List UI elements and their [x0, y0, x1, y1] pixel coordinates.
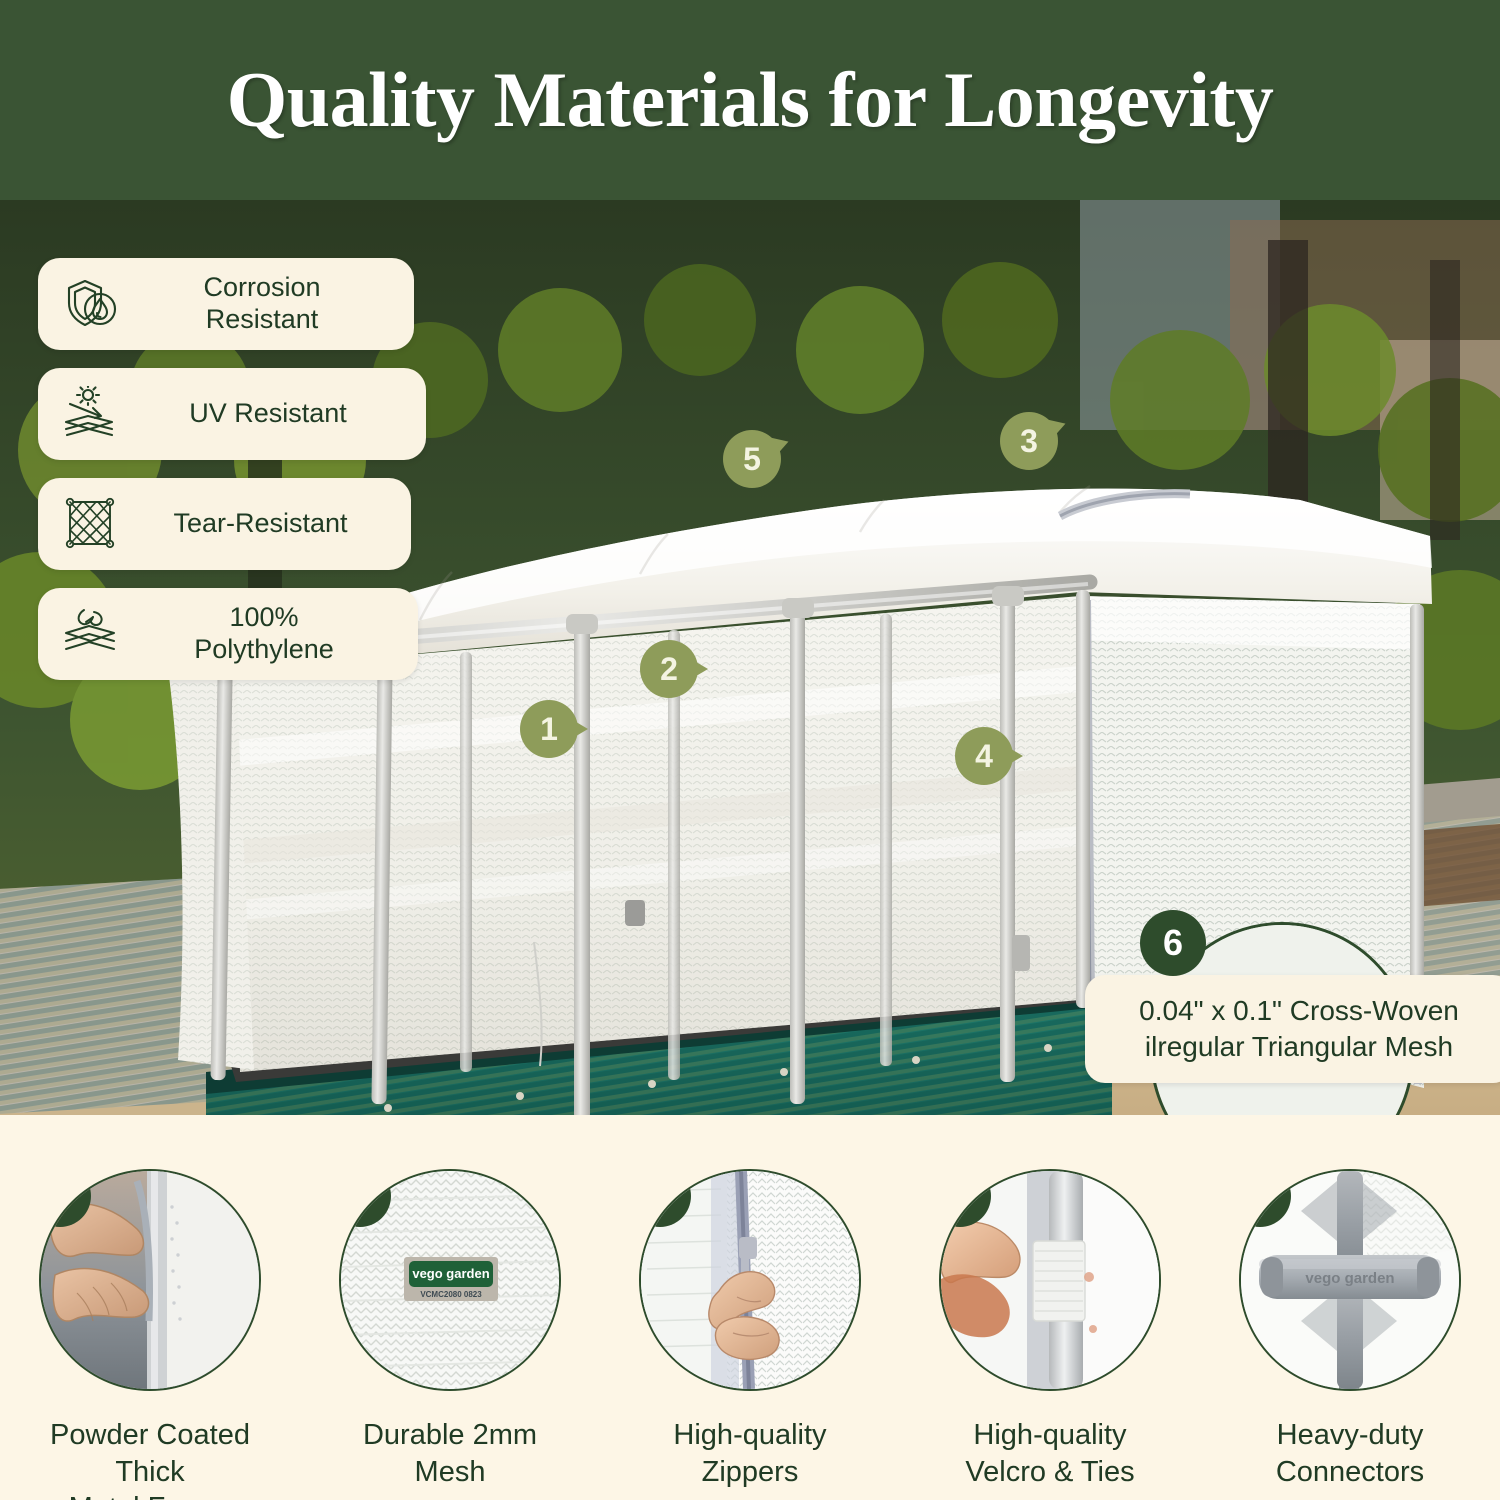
feature-badge-tear-resistant: Tear-Resistant	[38, 478, 411, 570]
feature-badge-label: UV Resistant	[130, 398, 412, 430]
uv-sun-ray-fabric-icon	[52, 381, 130, 447]
badge-line-2: Polythylene	[130, 634, 398, 666]
page-title: Quality Materials for Longevity	[227, 55, 1274, 145]
caption-line-1: Heavy-duty	[1276, 1417, 1424, 1454]
feature-badge-corrosion-resistant: Corrosion Resistant	[38, 258, 414, 350]
detail-caption-1: Powder Coated Thick Metal Frame	[19, 1417, 281, 1500]
detail-photo-zipper: 3	[639, 1169, 861, 1391]
badge-line-1: 100%	[130, 602, 398, 634]
caption-line-1: Powder Coated Thick	[19, 1417, 281, 1490]
pin-label: 3	[1000, 412, 1058, 470]
feature-badge-label: 100% Polythylene	[130, 602, 404, 666]
connector-emboss-text: vego garden	[1305, 1270, 1394, 1287]
caption-line-2: Metal Frame	[19, 1490, 281, 1500]
badge-line-1: Corrosion	[130, 272, 394, 304]
feature-badge-uv-resistant: UV Resistant	[38, 368, 426, 460]
detail-photo-cross-connector: vego garden 5	[1239, 1169, 1461, 1391]
polythylene-layers-leaf-icon	[52, 601, 130, 667]
caption-line-2: Velcro & Ties	[965, 1454, 1134, 1491]
pin-label: 5	[723, 430, 781, 488]
feature-badge-list: Corrosion Resistant UV Res	[38, 258, 398, 680]
caption-line-1: High-quality	[673, 1417, 826, 1454]
brand-tag-name: vego garden	[412, 1266, 489, 1281]
caption-line-2: Zippers	[673, 1454, 826, 1491]
hero-marker-6: 6	[1140, 910, 1206, 976]
detail-item-5: vego garden 5 Heavy-duty Connectors	[1219, 1169, 1481, 1490]
mesh-spec-callout: 0.04" x 0.1" Cross-Woven ilregular Trian…	[1085, 975, 1500, 1083]
detail-caption-2: Durable 2mm Mesh	[363, 1417, 537, 1490]
caption-line-2: Mesh	[363, 1454, 537, 1491]
detail-caption-4: High-quality Velcro & Ties	[965, 1417, 1134, 1490]
detail-item-4: 4 High-quality Velcro & Ties	[919, 1169, 1181, 1490]
pin-label: 4	[955, 727, 1013, 785]
detail-photo-mesh-label: vego garden VCMC2080 0823 2	[339, 1169, 561, 1391]
detail-item-2: vego garden VCMC2080 0823 2 Durable 2mm …	[319, 1169, 581, 1490]
pin-label: 1	[520, 700, 578, 758]
detail-caption-3: High-quality Zippers	[673, 1417, 826, 1490]
detail-photo-powder-coated-frame: 1	[39, 1169, 261, 1391]
mesh-spec-line-1: 0.04" x 0.1" Cross-Woven	[1105, 993, 1493, 1029]
hero-marker-4: 4	[955, 727, 1013, 785]
detail-photo-velcro-strap: 4	[939, 1169, 1161, 1391]
mesh-spec-line-2: ilregular Triangular Mesh	[1105, 1029, 1493, 1065]
feature-badge-label: Tear-Resistant	[130, 508, 397, 540]
pin-label: 2	[640, 640, 698, 698]
detail-item-1: 1 Powder Coated Thick Metal Frame	[19, 1169, 281, 1500]
caption-line-1: High-quality	[965, 1417, 1134, 1454]
brand-tag-code: VCMC2080 0823	[420, 1290, 482, 1299]
hero-marker-3: 3	[1000, 412, 1058, 470]
hero-marker-1: 1	[520, 700, 578, 758]
caption-line-1: Durable 2mm	[363, 1417, 537, 1454]
feature-badge-label: Corrosion Resistant	[130, 272, 400, 336]
corrosion-shield-droplet-icon	[52, 271, 130, 337]
hero-marker-2: 2	[640, 640, 698, 698]
detail-item-3: 3 High-quality Zippers	[619, 1169, 881, 1490]
tear-resistant-net-icon	[52, 491, 130, 557]
hero-marker-5: 5	[723, 430, 781, 488]
detail-caption-5: Heavy-duty Connectors	[1276, 1417, 1424, 1490]
feature-badge-polythylene: 100% Polythylene	[38, 588, 418, 680]
header-banner: Quality Materials for Longevity	[0, 0, 1500, 200]
detail-strip: 1 Powder Coated Thick Metal Frame	[0, 1115, 1500, 1500]
caption-line-2: Connectors	[1276, 1454, 1424, 1491]
product-infographic: Quality Materials for Longevity	[0, 0, 1500, 1500]
badge-line-2: Resistant	[130, 304, 394, 336]
